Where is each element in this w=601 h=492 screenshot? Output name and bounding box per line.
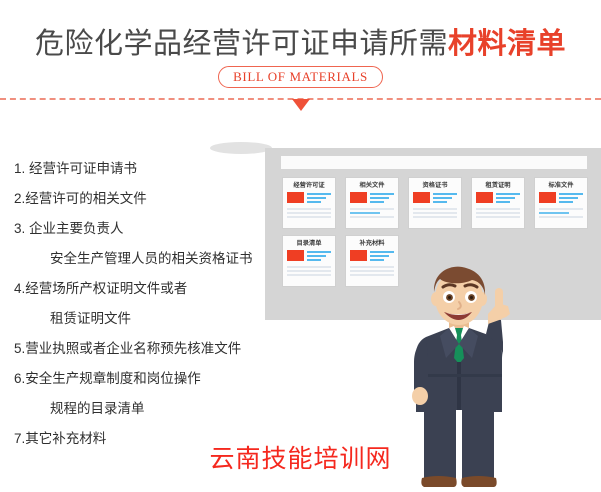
document-card: 租赁证明 [472,178,524,228]
document-thumbnail [476,192,493,203]
document-card-body [350,250,394,263]
ear-left [431,292,441,306]
jacket-fold [416,374,502,377]
hand-left [412,387,428,405]
infographic-page: 危险化学品经营许可证申请所需材料清单 BILL OF MATERIALS 1. … [0,0,601,492]
board-screen-strip [281,156,587,169]
document-thumbnail [350,192,367,203]
document-card-title: 标准文件 [534,182,589,191]
document-text-lines [433,192,457,205]
triangle-down-icon [292,99,310,111]
list-item: 规程的目录清单 [14,400,264,417]
document-footer-lines [476,208,520,218]
header: 危险化学品经营许可证申请所需材料清单 BILL OF MATERIALS [0,0,601,100]
document-card-title: 租赁证明 [471,182,526,191]
document-card: 标准文件 [535,178,587,228]
document-card-title: 资格证书 [408,182,463,191]
document-card-body [539,192,583,205]
document-card-body [287,250,331,263]
document-text-lines [307,192,331,205]
document-footer-lines [350,266,394,276]
list-item: 4.经营场所产权证明文件或者 [14,280,264,297]
document-thumbnail [287,192,304,203]
materials-list: 1. 经营许可证申请书 2.经营许可的相关文件 3. 企业主要负责人 安全生产管… [14,160,264,460]
list-item: 5.营业执照或者企业名称预先核准文件 [14,340,264,357]
document-card: 相关文件 [346,178,398,228]
list-item: 租赁证明文件 [14,310,264,327]
shoe-left [421,476,456,487]
document-card: 补充材料 [346,236,398,286]
document-card: 资格证书 [409,178,461,228]
page-title-main: 危险化学品经营许可证申请所需 [35,28,448,60]
document-footer-lines [539,208,583,218]
document-card-body [350,192,394,205]
document-text-lines [496,192,520,205]
document-cards-row-1: 经营许可证 相关文件 资格证书 [283,178,587,228]
page-title-accent: 材料清单 [448,28,566,60]
document-thumbnail [413,192,430,203]
list-item: 1. 经营许可证申请书 [14,160,264,177]
subtitle-badge: BILL OF MATERIALS [218,66,383,88]
document-footer-lines [350,208,394,218]
document-footer-lines [413,208,457,218]
document-text-lines [370,250,394,263]
arm-left [414,338,428,390]
document-text-lines [370,192,394,205]
shoe-right [461,476,496,487]
list-item: 6.安全生产规章制度和岗位操作 [14,370,264,387]
document-thumbnail [287,250,304,261]
document-cards-row-2: 目录清单 补充材料 [283,236,398,286]
list-item: 2.经营许可的相关文件 [14,190,264,207]
document-text-lines [307,250,331,263]
document-card-title: 补充材料 [345,240,400,249]
document-footer-lines [287,208,331,218]
jacket-seam [457,362,461,412]
document-footer-lines [287,266,331,276]
document-card-body [476,192,520,205]
site-watermark: 云南技能培训网 [0,444,601,474]
list-item: 安全生产管理人员的相关资格证书 [14,250,264,267]
document-card-title: 目录清单 [282,240,337,249]
document-thumbnail [539,192,556,203]
subtitle-badge-wrap: BILL OF MATERIALS [0,66,601,88]
document-card-body [413,192,457,205]
ear-right [477,292,487,306]
pointing-finger [495,288,503,310]
document-text-lines [559,192,583,205]
document-card-title: 经营许可证 [282,182,337,191]
list-item: 3. 企业主要负责人 [14,220,264,237]
document-card: 经营许可证 [283,178,335,228]
board-hanger [210,142,272,154]
document-card: 目录清单 [283,236,335,286]
page-title: 危险化学品经营许可证申请所需材料清单 [0,25,601,63]
document-card-title: 相关文件 [345,182,400,191]
document-card-body [287,192,331,205]
document-thumbnail [350,250,367,261]
